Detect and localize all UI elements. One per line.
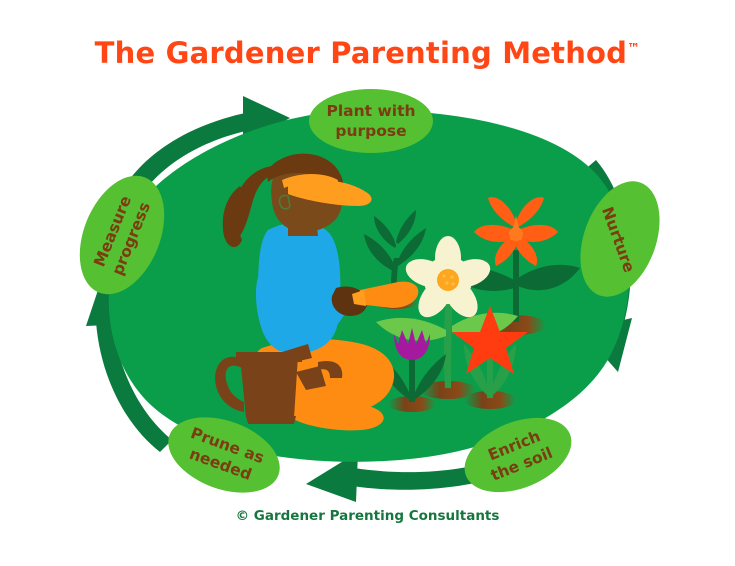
node-plant-with-purpose[interactable]: Plant with purpose bbox=[309, 89, 433, 153]
diagram-canvas: The Gardener Parenting Method™ bbox=[0, 0, 735, 566]
node-label-plant-with-purpose-line1: Plant with bbox=[326, 102, 415, 120]
cycle-diagram-svg: Plant with purpose Nurture Enrich the so… bbox=[0, 0, 735, 566]
node-label-plant-with-purpose-line2: purpose bbox=[335, 122, 406, 140]
copyright-footer: © Gardener Parenting Consultants bbox=[0, 508, 735, 524]
